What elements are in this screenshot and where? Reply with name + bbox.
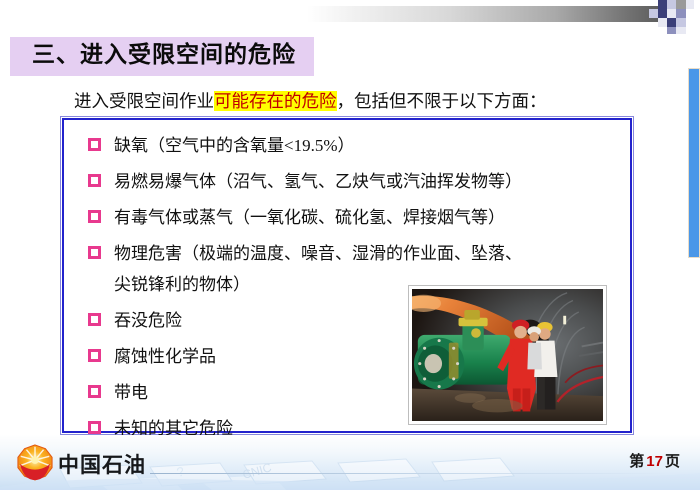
deco-square: [676, 0, 686, 9]
slide-footer: ? CNIC: [0, 435, 700, 490]
list-item-label: 有毒气体或蒸气（一氧化碳、硫化氢、焊接烟气等）: [114, 202, 505, 233]
deco-square: [676, 9, 686, 18]
top-gradient-bar: [307, 6, 662, 22]
list-item: 易燃易爆气体（沼气、氢气、乙炔气或汽油挥发物等）: [88, 166, 628, 197]
page-number-value: 17: [644, 453, 665, 470]
deco-square: [667, 9, 676, 18]
lead-before: 进入受限空间作业: [74, 91, 214, 111]
lead-after: ，包括但不限于以下方面：: [337, 91, 547, 111]
square-bullet-icon: [88, 138, 101, 151]
list-item-label: 缺氧（空气中的含氧量<19.5%）: [114, 130, 355, 161]
square-bullet-icon: [88, 313, 101, 326]
list-item-label: 吞没危险: [114, 305, 182, 336]
footer-divider: [150, 473, 670, 474]
tunnel-worksite-photo: [409, 286, 606, 424]
photo-artwork: [412, 289, 603, 421]
square-bullet-icon: [88, 385, 101, 398]
square-bullet-icon: [88, 174, 101, 187]
deco-square: [667, 18, 676, 27]
list-item-label: 带电: [114, 377, 148, 408]
page-prefix: 第: [629, 453, 644, 470]
worker-white-helmet: [527, 326, 542, 369]
list-item-label: 易燃易爆气体（沼气、氢气、乙炔气或汽油挥发物等）: [114, 166, 522, 197]
lead-highlight: 可能存在的危险: [214, 91, 337, 111]
petrochina-logo: [16, 443, 54, 481]
deco-square: [658, 18, 667, 27]
lead-sentence: 进入受限空间作业可能存在的危险，包括但不限于以下方面：: [74, 88, 547, 113]
deco-square: [658, 9, 667, 18]
list-item: 缺氧（空气中的含氧量<19.5%）: [88, 130, 628, 161]
petrochina-logo-artwork: [16, 443, 54, 481]
deco-square: [676, 18, 686, 27]
square-bullet-icon: [88, 210, 101, 223]
square-bullet-icon: [88, 246, 101, 259]
company-name: 中国石油: [58, 449, 146, 479]
square-bullet-icon: [88, 421, 101, 434]
deco-square: [649, 9, 658, 18]
list-item: 有毒气体或蒸气（一氧化碳、硫化氢、焊接烟气等）: [88, 202, 628, 233]
top-decoration: [0, 0, 700, 34]
right-accent-strip: [688, 68, 700, 258]
square-bullet-icon: [88, 349, 101, 362]
deco-square: [676, 27, 686, 34]
deco-square: [667, 0, 676, 9]
list-item-label: 腐蚀性化学品: [114, 341, 216, 372]
page-suffix: 页: [665, 453, 680, 470]
deco-square: [686, 0, 694, 9]
page-title: 三、进入受限空间的危险: [10, 37, 314, 76]
page-number: 第17页: [629, 450, 680, 471]
hazard-content-box: 缺氧（空气中的含氧量<19.5%） 易燃易爆气体（沼气、氢气、乙炔气或汽油挥发物…: [62, 118, 632, 433]
deco-square: [658, 0, 667, 9]
deco-square: [667, 27, 676, 34]
